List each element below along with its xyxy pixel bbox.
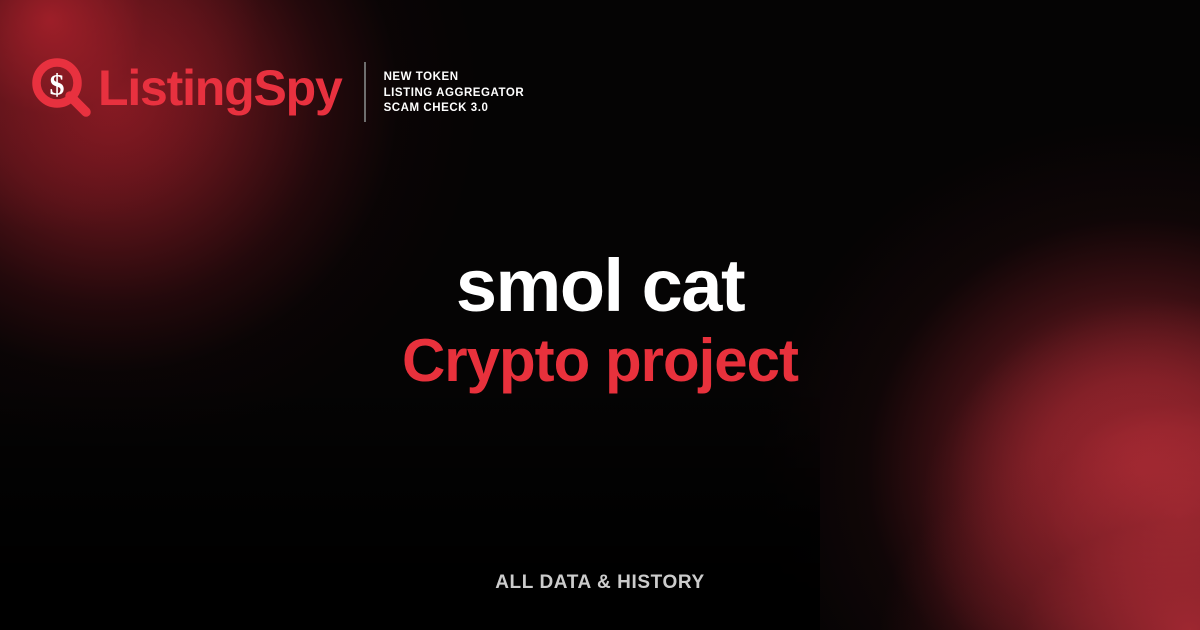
- tagline-line-1: NEW TOKEN: [384, 70, 525, 86]
- brand-header: $ ListingSpy NEW TOKEN LISTING AGGREGATO…: [32, 56, 524, 122]
- footer-caption: ALL DATA & HISTORY: [0, 572, 1200, 594]
- page-title: smol cat: [0, 248, 1200, 323]
- header-divider: [364, 62, 366, 122]
- brand-name: ListingSpy: [98, 63, 342, 113]
- svg-text:$: $: [50, 69, 65, 102]
- page-subtitle: Crypto project: [0, 329, 1200, 392]
- tagline-line-3: SCAM CHECK 3.0: [384, 101, 525, 117]
- brand-lockup[interactable]: $ ListingSpy: [32, 56, 342, 120]
- background-glow-bottom-right: [880, 430, 1200, 630]
- brand-tagline: NEW TOKEN LISTING AGGREGATOR SCAM CHECK …: [384, 70, 525, 117]
- magnifier-dollar-icon: $: [32, 58, 94, 120]
- share-card: $ ListingSpy NEW TOKEN LISTING AGGREGATO…: [0, 0, 1200, 630]
- tagline-line-2: LISTING AGGREGATOR: [384, 86, 525, 102]
- hero-block: smol cat Crypto project: [0, 248, 1200, 392]
